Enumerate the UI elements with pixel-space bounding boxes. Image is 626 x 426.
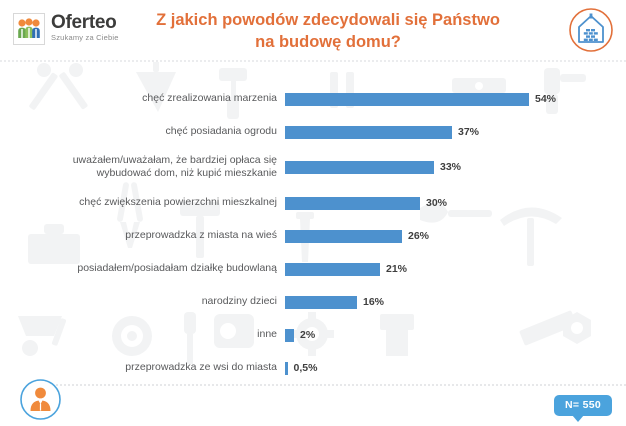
bar-label: chęć zwiększenia powierzchni mieszkalnej — [0, 196, 285, 209]
bar-fill[interactable] — [285, 197, 420, 210]
bar-fill[interactable] — [285, 93, 529, 106]
bar-label: narodziny dzieci — [0, 295, 285, 308]
bar-track: 30% — [285, 188, 626, 218]
bar-track: 54% — [285, 84, 626, 114]
footer: N= 550 — [0, 374, 626, 426]
bar-value-label: 2% — [300, 329, 315, 341]
bar-label-line1: uważałem/uważałam, że bardziej opłaca si… — [0, 154, 277, 167]
bar-track: 21% — [285, 254, 626, 284]
bar-fill[interactable] — [285, 296, 357, 309]
header: Oferteo Szukamy za Ciebie Z jakich powod… — [0, 0, 626, 62]
person-avatar-icon — [19, 378, 62, 421]
bar-value-label: 16% — [363, 296, 384, 308]
page-title-line1: Z jakich powodów zdecydowali się Państwo — [112, 10, 544, 32]
bar-chart: chęć zrealizowania marzenia 54% chęć pos… — [0, 84, 626, 374]
bar-value-label: 37% — [458, 126, 479, 138]
brand-logo[interactable]: Oferteo Szukamy za Ciebie — [13, 13, 119, 45]
bar-label-line1: przeprowadzka ze wsi do miasta — [0, 361, 277, 374]
chart-row: chęć zrealizowania marzenia 54% — [0, 84, 626, 114]
chart-row: uważałem/uważałam, że bardziej opłaca si… — [0, 150, 626, 184]
bar-track: 2% — [285, 320, 626, 350]
bar-label-line2: wybudować dom, niż kupić mieszkanie — [0, 167, 277, 180]
bar-track: 33% — [285, 150, 626, 184]
bar-fill[interactable] — [285, 329, 294, 342]
bar-fill[interactable] — [285, 161, 434, 174]
page-title-line2: na budowę domu? — [112, 32, 544, 54]
bar-label: przeprowadzka ze wsi do miasta — [0, 361, 285, 374]
bar-fill[interactable] — [285, 263, 380, 276]
bar-track: 37% — [285, 117, 626, 147]
bar-value-label: 30% — [426, 197, 447, 209]
bar-label: inne — [0, 328, 285, 341]
bar-label: posiadałem/posiadałam działkę budowlaną — [0, 262, 285, 275]
chart-row: inne 2% — [0, 320, 626, 350]
bar-label: chęć zrealizowania marzenia — [0, 92, 285, 105]
page-title: Z jakich powodów zdecydowali się Państwo… — [112, 10, 544, 54]
bar-track: 16% — [285, 287, 626, 317]
bar-label-line1: chęć zrealizowania marzenia — [0, 92, 277, 105]
bar-value-label: 26% — [408, 230, 429, 242]
bar-label-line1: posiadałem/posiadałam działkę budowlaną — [0, 262, 277, 275]
bar-value-label: 54% — [535, 93, 556, 105]
bar-fill[interactable] — [285, 362, 288, 375]
bar-label-line1: narodziny dzieci — [0, 295, 277, 308]
brand-name: Oferteo — [51, 13, 119, 32]
chart-row: posiadałem/posiadałam działkę budowlaną … — [0, 254, 626, 284]
bar-label-line1: inne — [0, 328, 277, 341]
bar-fill[interactable] — [285, 230, 402, 243]
bar-label-line1: przeprowadzka z miasta na wieś — [0, 229, 277, 242]
bar-value-label: 33% — [440, 161, 461, 173]
bar-value-label: 0,5% — [294, 362, 318, 374]
brand-tagline: Szukamy za Ciebie — [51, 34, 119, 42]
house-brick-icon — [568, 7, 614, 53]
bar-label: przeprowadzka z miasta na wieś — [0, 229, 285, 242]
infographic-page: Oferteo Szukamy za Ciebie Z jakich powod… — [0, 0, 626, 426]
bar-label-line1: chęć zwiększenia powierzchni mieszkalnej — [0, 196, 277, 209]
chart-row: chęć zwiększenia powierzchni mieszkalnej… — [0, 188, 626, 218]
bar-label: uważałem/uważałam, że bardziej opłaca si… — [0, 154, 285, 180]
header-divider — [0, 60, 626, 64]
three-people-icon — [13, 13, 45, 45]
bar-value-label: 21% — [386, 263, 407, 275]
bar-label-line1: chęć posiadania ogrodu — [0, 125, 277, 138]
bar-fill[interactable] — [285, 126, 452, 139]
chart-row: narodziny dzieci 16% — [0, 287, 626, 317]
chart-row: chęć posiadania ogrodu 37% — [0, 117, 626, 147]
bar-track: 26% — [285, 221, 626, 251]
bar-label: chęć posiadania ogrodu — [0, 125, 285, 138]
sample-size-badge: N= 550 — [554, 395, 612, 416]
chart-row: przeprowadzka z miasta na wieś 26% — [0, 221, 626, 251]
